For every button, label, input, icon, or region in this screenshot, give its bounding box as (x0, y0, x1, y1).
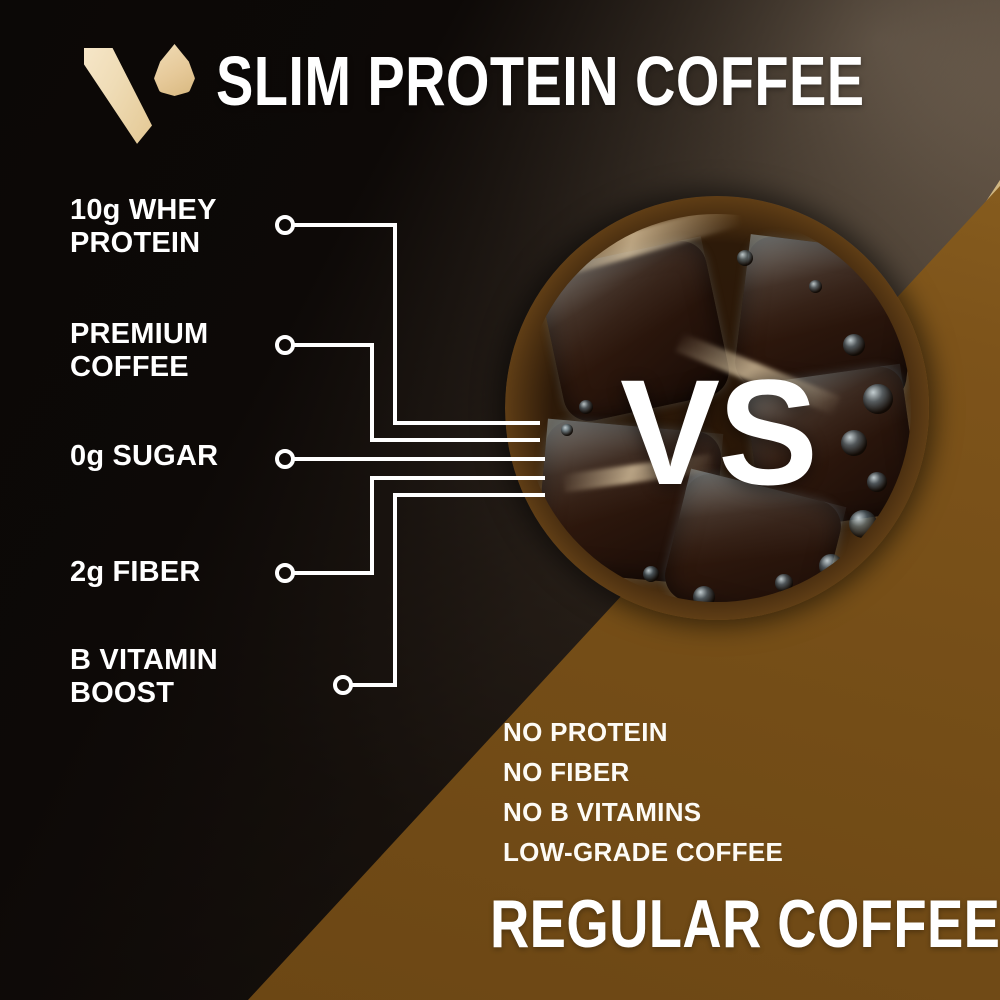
bubble (737, 250, 753, 266)
bubble (693, 586, 715, 602)
feature-item-protein: 10g WHEY PROTEIN (70, 194, 300, 260)
drawback-item-fiber: NO FIBER (503, 752, 783, 792)
bubble (775, 574, 793, 592)
bubble (843, 334, 865, 356)
feature-item-fiber: 2g FIBER (70, 556, 300, 589)
versus-label: VS (620, 357, 816, 507)
feature-item-sugar: 0g SUGAR (70, 440, 300, 473)
bubble (841, 430, 867, 456)
competitor-drawback-list: NO PROTEIN NO FIBER NO B VITAMINS LOW-GR… (503, 712, 783, 872)
bubble (863, 384, 893, 414)
drawback-item-vitamins: NO B VITAMINS (503, 792, 783, 832)
bubble (819, 554, 843, 578)
bubble (849, 510, 877, 538)
bubble (579, 400, 593, 414)
bubble (809, 280, 822, 293)
competitor-title: REGULAR COFFEE (490, 888, 1000, 960)
bubble (561, 424, 573, 436)
poster-canvas: SLIM PROTEIN COFFEE 10g WHEY PROTEIN PRE… (0, 0, 1000, 1000)
feature-item-coffee: PREMIUM COFFEE (70, 318, 300, 384)
page-title: SLIM PROTEIN COFFEE (216, 45, 865, 117)
bubble (643, 566, 659, 582)
drawback-item-quality: LOW-GRADE COFFEE (503, 832, 783, 872)
drawback-item-protein: NO PROTEIN (503, 712, 783, 752)
bubble (867, 472, 887, 492)
feature-item-vitamin: B VITAMIN BOOST (70, 644, 300, 710)
feature-list: 10g WHEY PROTEIN PREMIUM COFFEE 0g SUGAR… (0, 0, 300, 1000)
